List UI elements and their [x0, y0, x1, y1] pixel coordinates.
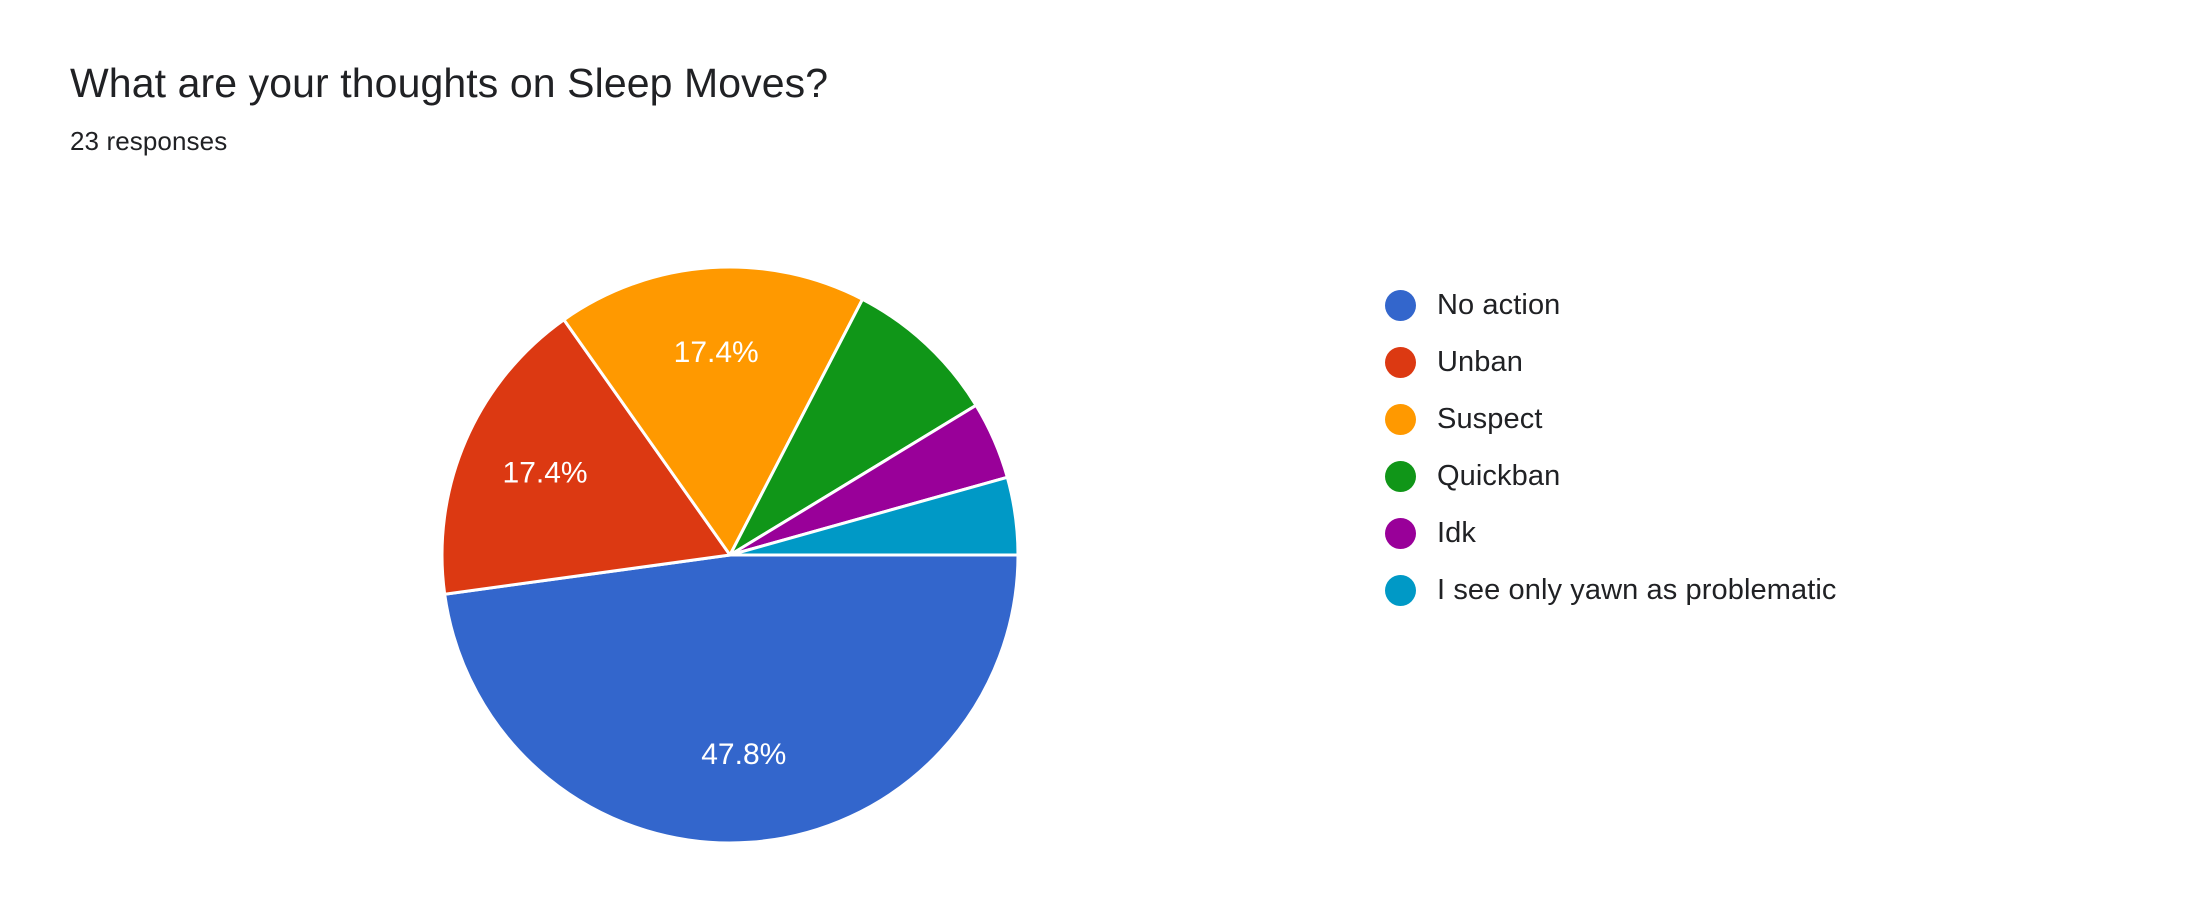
legend-item[interactable]: Unban	[1385, 334, 1837, 391]
chart-area: 47.8%17.4%17.4%	[0, 0, 2199, 924]
pie-slice-percent-label: 47.8%	[701, 738, 786, 771]
legend-item-label: Quickban	[1437, 460, 1560, 493]
legend-item-label: Idk	[1437, 517, 1476, 550]
legend-item[interactable]: Suspect	[1385, 391, 1837, 448]
legend-item[interactable]: Idk	[1385, 505, 1837, 562]
pie-slice-percent-label: 17.4%	[674, 336, 759, 369]
legend-color-swatch-icon	[1385, 575, 1416, 606]
legend-item[interactable]: No action	[1385, 277, 1837, 334]
pie-slice[interactable]	[445, 555, 1018, 843]
pie-slice-percent-label: 17.4%	[503, 457, 588, 490]
legend-item[interactable]: I see only yawn as problematic	[1385, 562, 1837, 619]
form-response-chart-page: What are your thoughts on Sleep Moves? 2…	[0, 0, 2199, 924]
legend-color-swatch-icon	[1385, 290, 1416, 321]
pie-chart[interactable]: 47.8%17.4%17.4%	[440, 265, 1020, 845]
legend-item-label: I see only yawn as problematic	[1437, 574, 1837, 607]
legend-color-swatch-icon	[1385, 461, 1416, 492]
legend-item-label: Unban	[1437, 346, 1523, 379]
chart-legend: No actionUnbanSuspectQuickbanIdkI see on…	[1385, 277, 1837, 619]
legend-item[interactable]: Quickban	[1385, 448, 1837, 505]
legend-item-label: Suspect	[1437, 403, 1543, 436]
legend-color-swatch-icon	[1385, 404, 1416, 435]
legend-color-swatch-icon	[1385, 347, 1416, 378]
legend-item-label: No action	[1437, 289, 1560, 322]
legend-color-swatch-icon	[1385, 518, 1416, 549]
